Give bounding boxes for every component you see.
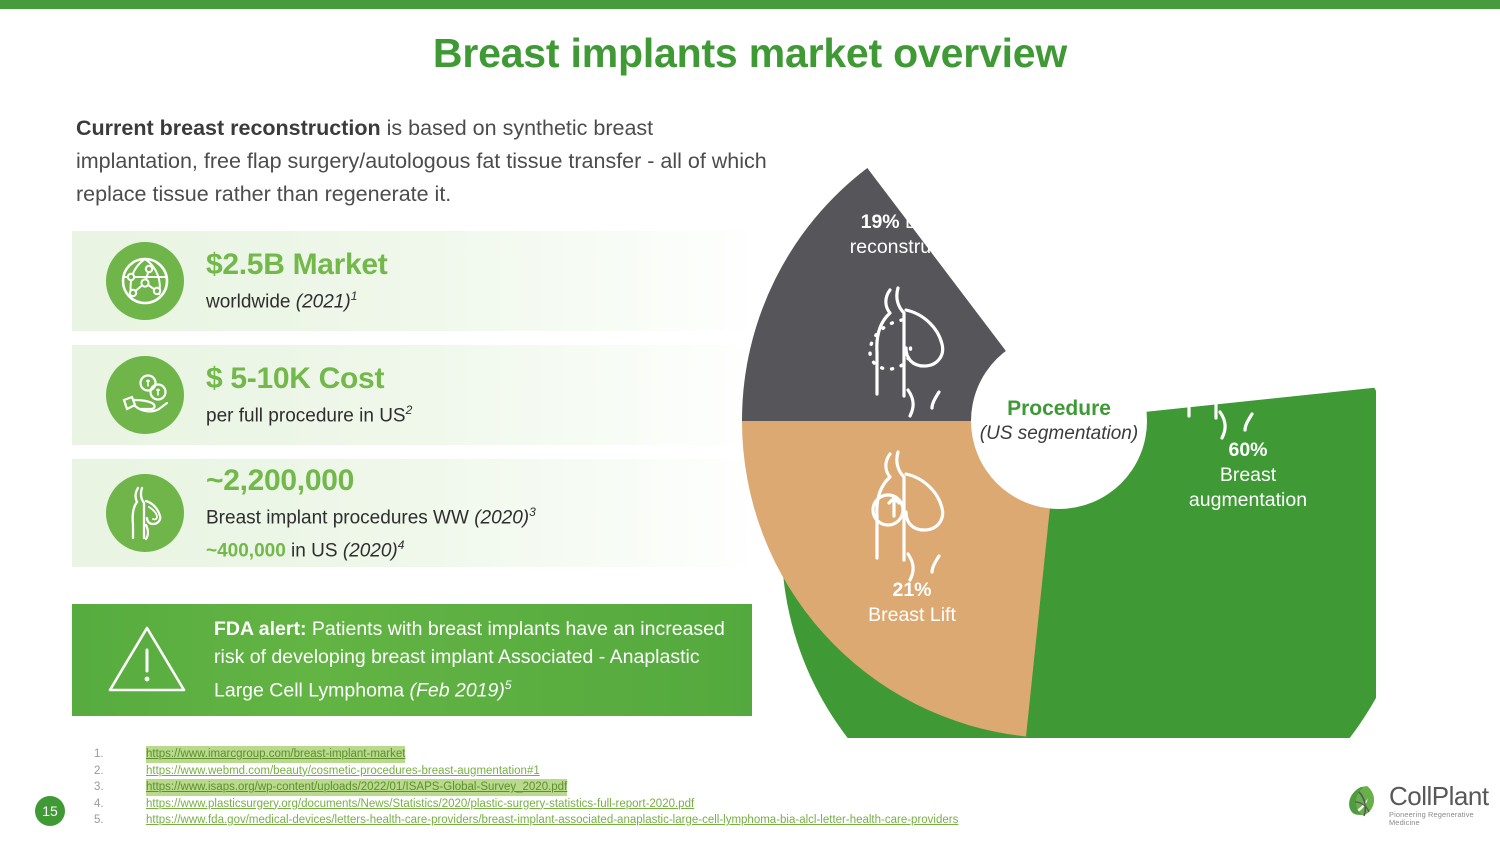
- reference-list: 1. https://www.imarcgroup.com/breast-imp…: [94, 746, 1194, 829]
- sub-plain: in US: [286, 540, 343, 561]
- stat-card-subtitle-line2: ~400,000 in US (2020)4: [206, 532, 536, 564]
- footnote-marker: 4: [398, 538, 405, 552]
- top-accent-bar: [0, 0, 1500, 9]
- stat-card-procedures: ~2,200,000 Breast implant procedures WW …: [72, 459, 762, 567]
- fda-alert-label: FDA alert:: [214, 618, 306, 640]
- stat-card-list: $2.5B Market worldwide (2021)1 $ 5-10K C…: [72, 231, 762, 581]
- sub-plain: worldwide: [206, 292, 296, 313]
- donut-label-line1: Breast Lift: [868, 604, 956, 626]
- fda-alert-banner: FDA alert: Patients with breast implants…: [72, 604, 752, 716]
- stat-card-market: $2.5B Market worldwide (2021)1: [72, 231, 762, 331]
- donut-label-percent: 21%: [892, 579, 931, 601]
- leaf-logo-icon: [1345, 782, 1385, 827]
- footnote-marker: 2: [406, 403, 413, 417]
- reference-number: 4.: [94, 796, 146, 813]
- reference-number: 3.: [94, 779, 146, 796]
- sub-italic: (2020): [474, 507, 529, 528]
- reference-item: 1. https://www.imarcgroup.com/breast-imp…: [94, 746, 1194, 763]
- hand-coins-icon: [106, 356, 184, 434]
- logo-wordmark: CollPlant: [1389, 783, 1500, 809]
- stat-card-headline: $ 5-10K Cost: [206, 362, 412, 396]
- donut-center-subtitle: (US segmentation): [980, 423, 1138, 445]
- stat-card-headline: ~2,200,000: [206, 464, 536, 498]
- footnote-marker: 1: [351, 289, 358, 303]
- fda-alert-text: FDA alert: Patients with breast implants…: [214, 615, 752, 705]
- sub-italic: (2020): [343, 540, 398, 561]
- reference-item: 2. https://www.webmd.com/beauty/cosmetic…: [94, 763, 1194, 780]
- reference-link[interactable]: https://www.fda.gov/medical-devices/lett…: [146, 812, 958, 829]
- fda-alert-date: (Feb 2019): [409, 680, 504, 702]
- stat-card-cost: $ 5-10K Cost per full procedure in US2: [72, 345, 762, 445]
- donut-label-breast-reconstruction: 19% Breast reconstruction: [818, 210, 1004, 260]
- donut-label-breast-lift: 21% Breast Lift: [832, 578, 992, 628]
- stat-card-subtitle: per full procedure in US2: [206, 397, 412, 429]
- footnote-marker: 3: [529, 505, 536, 519]
- reference-item: 3. https://www.isaps.org/wp-content/uplo…: [94, 779, 1194, 796]
- collplant-logo: CollPlant Pioneering Regenerative Medici…: [1345, 782, 1500, 827]
- procedure-donut-chart: Procedure (US segmentation): [742, 104, 1376, 738]
- reference-number: 1.: [94, 746, 146, 763]
- page-title: Breast implants market overview: [0, 30, 1500, 77]
- donut-label-line1: Breast: [905, 211, 961, 233]
- stat-card-headline: $2.5B Market: [206, 248, 388, 282]
- reference-link[interactable]: https://www.isaps.org/wp-content/uploads…: [146, 779, 567, 796]
- reference-link[interactable]: https://www.webmd.com/beauty/cosmetic-pr…: [146, 763, 540, 780]
- intro-paragraph: Current breast reconstruction is based o…: [76, 112, 776, 211]
- page-number-badge: 15: [35, 796, 65, 826]
- sub-italic: (2021): [296, 292, 351, 313]
- logo-tagline: Pioneering Regenerative Medicine: [1389, 811, 1500, 826]
- donut-center-label: Procedure (US segmentation): [971, 333, 1147, 509]
- donut-center-title: Procedure: [1007, 397, 1111, 421]
- donut-label-line2: reconstruction: [850, 236, 972, 258]
- sub-highlight: ~400,000: [206, 540, 286, 561]
- donut-label-percent: 60%: [1228, 439, 1267, 461]
- stat-card-subtitle-line1: Breast implant procedures WW (2020)3: [206, 499, 536, 531]
- reference-link[interactable]: https://www.plasticsurgery.org/documents…: [146, 796, 694, 813]
- stat-card-subtitle: worldwide (2021)1: [206, 283, 388, 315]
- intro-lead: Current breast reconstruction: [76, 116, 381, 140]
- reference-item: 4. https://www.plasticsurgery.org/docume…: [94, 796, 1194, 813]
- donut-label-line2: augmentation: [1189, 489, 1307, 511]
- reference-number: 5.: [94, 812, 146, 829]
- globe-network-icon: [106, 242, 184, 320]
- donut-label-breast-augmentation: 60% Breast augmentation: [1158, 438, 1338, 513]
- footnote-marker: 5: [505, 678, 512, 692]
- donut-label-line1: Breast: [1220, 464, 1276, 486]
- torso-implant-icon: [106, 474, 184, 552]
- sub-plain: Breast implant procedures WW: [206, 507, 474, 528]
- sub-plain: per full procedure in US: [206, 406, 406, 427]
- warning-triangle-icon: [104, 620, 190, 701]
- reference-link[interactable]: https://www.imarcgroup.com/breast-implan…: [146, 746, 405, 763]
- donut-label-percent: 19%: [861, 211, 900, 233]
- reference-item: 5. https://www.fda.gov/medical-devices/l…: [94, 812, 1194, 829]
- reference-number: 2.: [94, 763, 146, 780]
